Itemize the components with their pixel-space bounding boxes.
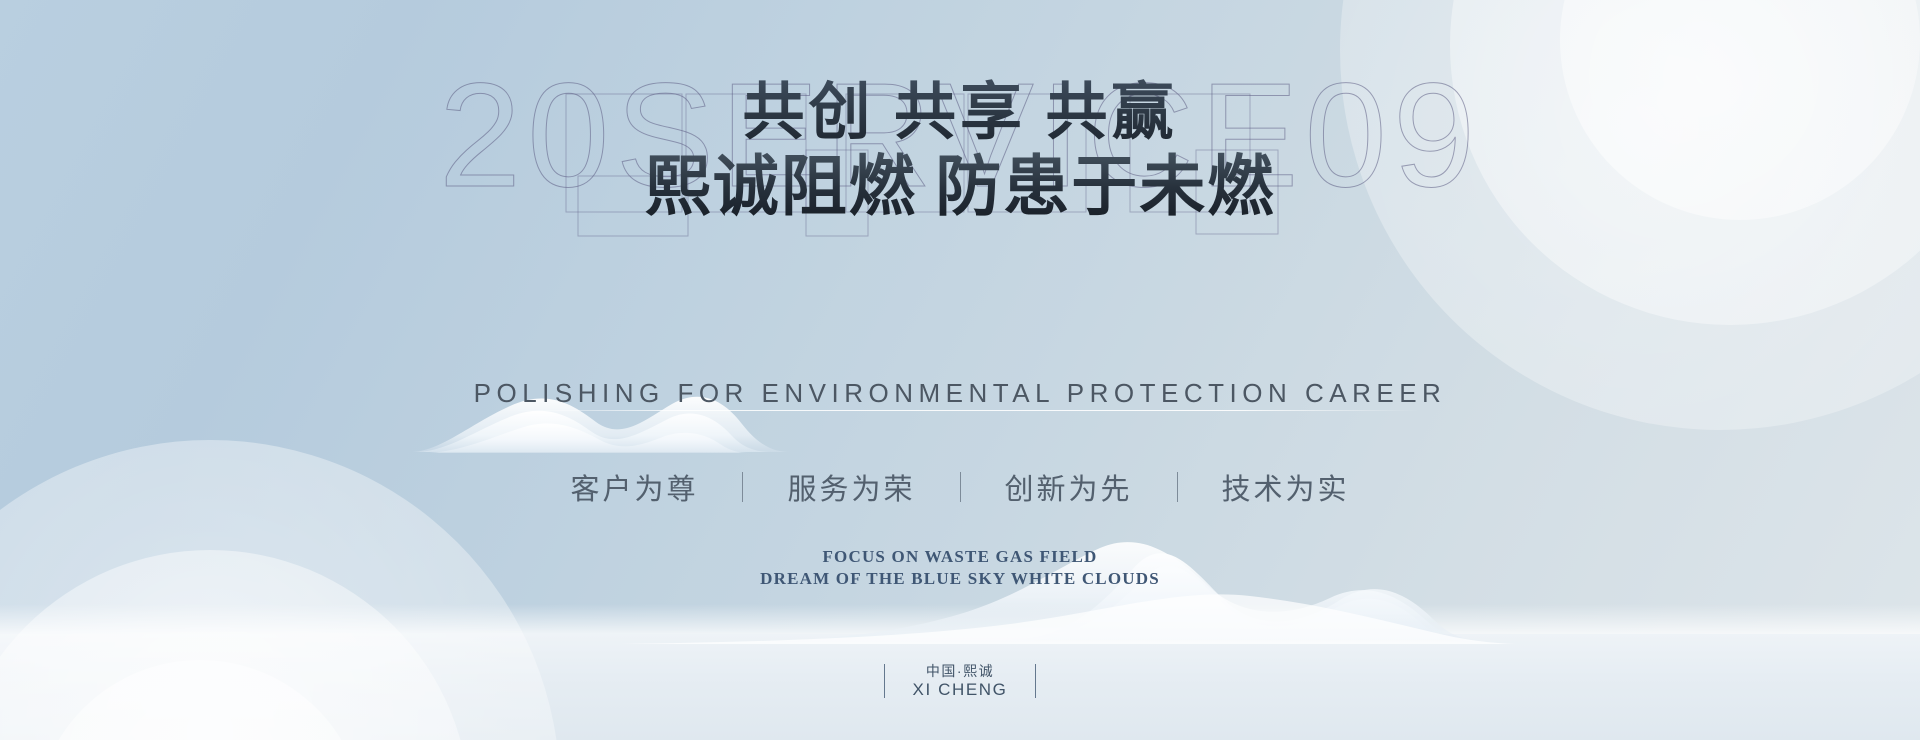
brand-name-cn: 中国·熙诚 bbox=[913, 662, 1008, 680]
english-tagline: POLISHING FOR ENVIRONMENTAL PROTECTION C… bbox=[0, 378, 1920, 409]
values-row: 客户为尊 服务为荣 创新为先 技术为实 bbox=[0, 466, 1920, 508]
serif-subtitle-line-2: DREAM OF THE BLUE SKY WHITE CLOUDS bbox=[0, 568, 1920, 590]
value-item-3: 创新为先 bbox=[1005, 466, 1133, 508]
promo-banner: 20SERVICE09 bbox=[0, 0, 1920, 740]
serif-subtitle-line-1: FOCUS ON WASTE GAS FIELD bbox=[0, 546, 1920, 568]
headline-line-2: 熙诚阻燃 防患于未燃 bbox=[0, 150, 1920, 226]
headline-line-1: 共创 共享 共赢 bbox=[0, 78, 1920, 148]
tagline-underline bbox=[500, 410, 1420, 411]
brand-text-block: 中国·熙诚 XI CHENG bbox=[913, 662, 1008, 700]
value-separator-2 bbox=[960, 472, 961, 502]
brand-divider-left bbox=[884, 664, 885, 698]
serif-subtitle-block: FOCUS ON WASTE GAS FIELD DREAM OF THE BL… bbox=[0, 546, 1920, 590]
value-separator-1 bbox=[742, 472, 743, 502]
value-item-1: 客户为尊 bbox=[570, 466, 698, 508]
brand-divider-right bbox=[1035, 664, 1036, 698]
brand-name-en: XI CHENG bbox=[913, 680, 1008, 700]
headline-block: 共创 共享 共赢 熙诚阻燃 防患于未燃 bbox=[0, 78, 1920, 226]
brand-mark: 中国·熙诚 XI CHENG bbox=[0, 662, 1920, 700]
value-item-2: 服务为荣 bbox=[787, 466, 915, 508]
value-item-4: 技术为实 bbox=[1222, 466, 1350, 508]
value-separator-3 bbox=[1177, 472, 1178, 502]
